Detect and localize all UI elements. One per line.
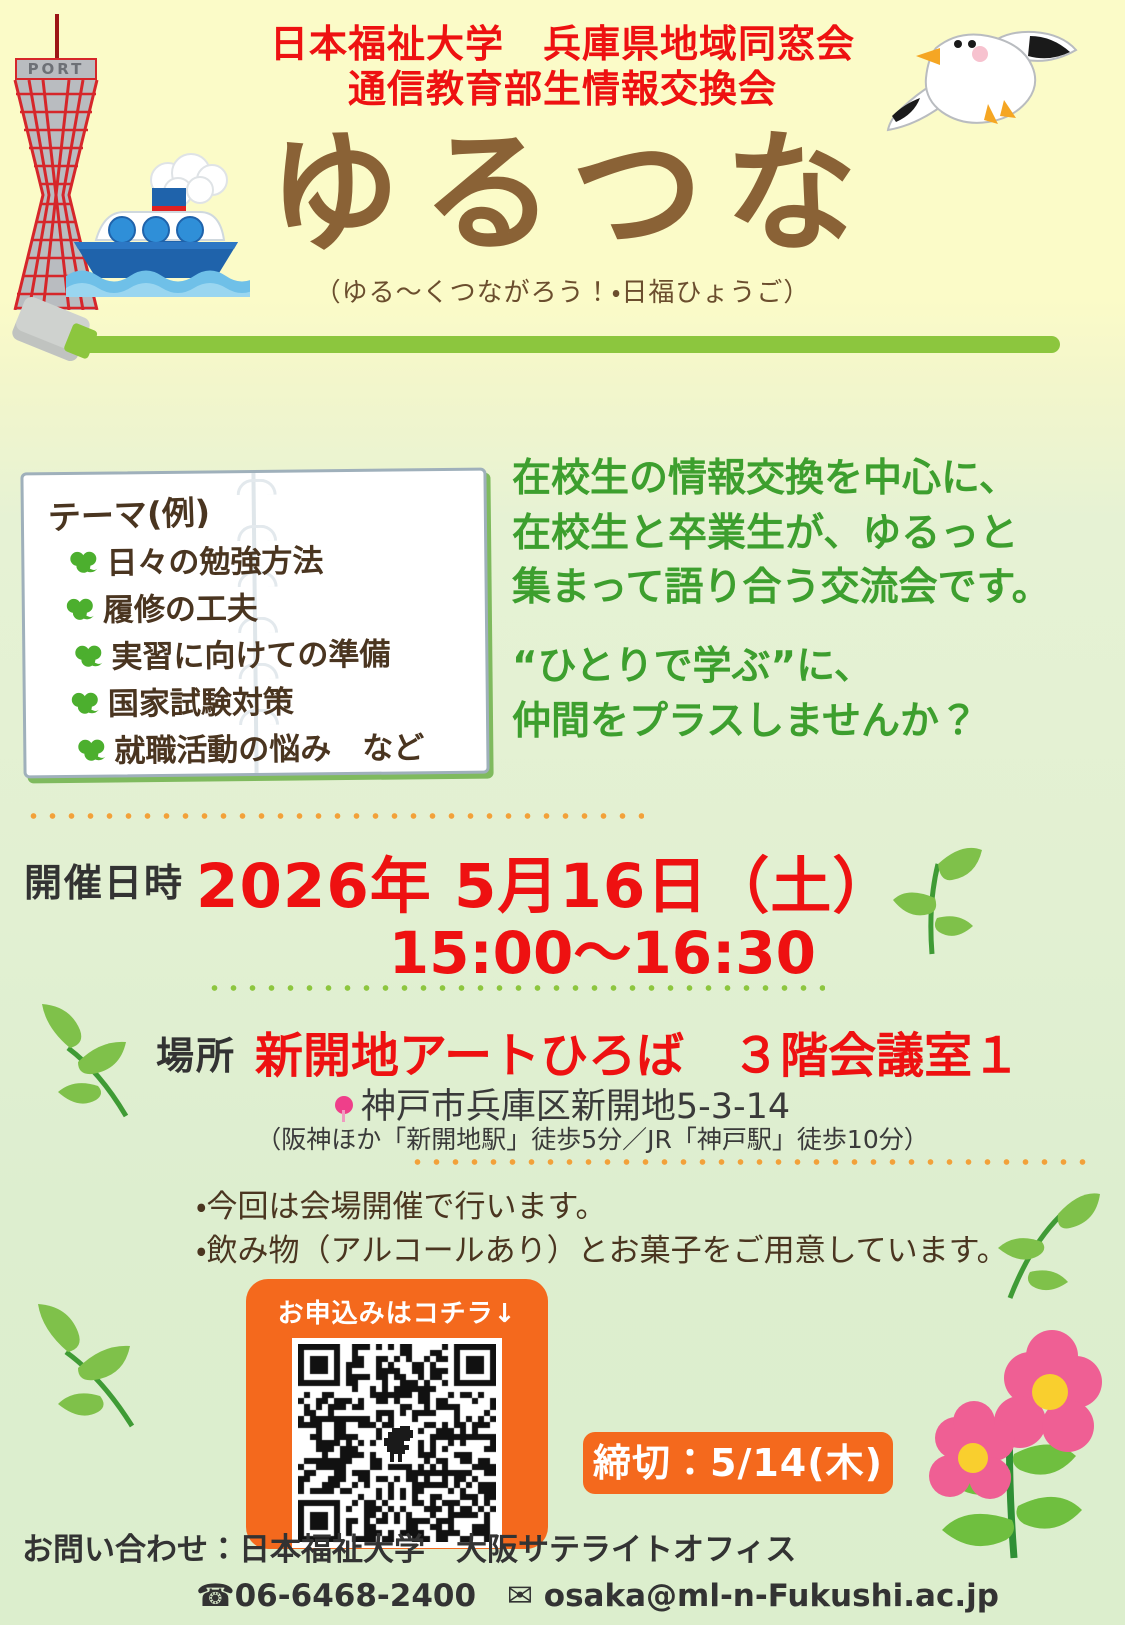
dotted-divider [24, 812, 644, 820]
page-subtitle: （ゆる～くつながろう！・日福ひょうご） [0, 272, 1125, 309]
poster-root: PORT [0, 0, 1125, 1625]
dotted-divider [205, 984, 825, 992]
org-heading: 日本福祉大学 兵庫県地域同窓会 通信教育部生情報交換会 [0, 22, 1125, 112]
qr-code[interactable] [292, 1338, 502, 1548]
list-item: 国家試験対策 [70, 674, 480, 725]
theme-list: 日々の勉強方法 履修の工夫 実習に向けての準備 [62, 533, 474, 772]
list-item-label: 就職活動の悩み など [114, 722, 424, 770]
note-line: ・今回は会場開催で行います。 [196, 1185, 1056, 1229]
venue-access-note: （阪神ほか「新開地駅」徒歩5分／JR「神戸駅」徒歩10分） [0, 1120, 1125, 1156]
theme-heading: テーマ(例) [47, 485, 211, 539]
note-line: ・飲み物（アルコールあり）とお菓子をご用意しています。 [196, 1229, 1056, 1273]
description-paragraph-1: 在校生の情報交換を中心に、 在校生と卒業生が、ゆるっと 集まって語り合う交流会で… [512, 452, 1112, 616]
clover-icon [70, 686, 100, 716]
notebook-ring [236, 479, 276, 495]
event-notes: ・今回は会場開催で行います。 ・飲み物（アルコールあり）とお菓子をご用意していま… [196, 1185, 1056, 1273]
list-item-label: 実習に向けての準備 [111, 629, 390, 677]
clover-icon [76, 733, 106, 763]
contact-line-2: ☎06-6468-2400 ✉ osaka@ml-n-Fukushi.ac.jp [196, 1570, 999, 1615]
list-item: 履修の工夫 [65, 580, 475, 631]
location-pin-icon [335, 1096, 353, 1122]
leaf-sprig-decoration [980, 1180, 1100, 1300]
theme-notebook-panel: テーマ(例) 日々の勉強方法 履修の工夫 [20, 468, 489, 779]
place-value: 新開地アートひろば ３階会議室１ [255, 1016, 1020, 1086]
list-item-label: 国家試験対策 [108, 677, 294, 724]
application-qr-card[interactable]: お申込みはコチラ↓ [246, 1279, 548, 1549]
leaf-sprig-decoration [30, 1300, 160, 1430]
list-item: 日々の勉強方法 [68, 533, 478, 584]
description-line: “ひとりで学ぶ”に、 [512, 640, 1112, 695]
list-item: 実習に向けての準備 [73, 627, 483, 678]
description-line: 仲間をプラスしませんか？ [512, 695, 1112, 750]
description-line: 集まって語り合う交流会です。 [512, 561, 1112, 616]
brush-stroke-divider [70, 336, 1060, 353]
org-heading-line1: 日本福祉大学 兵庫県地域同窓会 [0, 22, 1125, 67]
qr-caption: お申込みはコチラ↓ [246, 1279, 548, 1330]
list-item: 就職活動の悩み など [76, 721, 486, 772]
org-heading-line2: 通信教育部生情報交換会 [0, 67, 1125, 112]
deadline-badge: 締切：5/14(木) [583, 1432, 893, 1494]
leaf-sprig-decoration [34, 1000, 154, 1120]
clover-icon [73, 639, 103, 669]
flower-decoration [910, 1330, 1110, 1560]
description-line: 在校生と卒業生が、ゆるっと [512, 507, 1112, 562]
leaf-sprig-decoration [880, 836, 990, 956]
dinosaur-icon [374, 1420, 420, 1466]
place-label: 場所 [156, 1025, 236, 1080]
description-paragraph-2: “ひとりで学ぶ”に、 仲間をプラスしませんか？ [512, 640, 1112, 749]
page-title: ゆるつな [0, 128, 1125, 260]
list-item-label: 日々の勉強方法 [106, 535, 323, 582]
list-item-label: 履修の工夫 [103, 583, 258, 630]
dotted-divider [408, 1158, 1098, 1166]
contact-line-1: お問い合わせ：日本福祉大学 大阪サテライトオフィス [22, 1524, 796, 1569]
clover-icon [68, 545, 98, 575]
clover-icon [65, 592, 95, 622]
date-label: 開催日時 [24, 852, 184, 907]
time-value: 15:00〜16:30 [196, 906, 816, 990]
description-line: 在校生の情報交換を中心に、 [512, 452, 1112, 507]
